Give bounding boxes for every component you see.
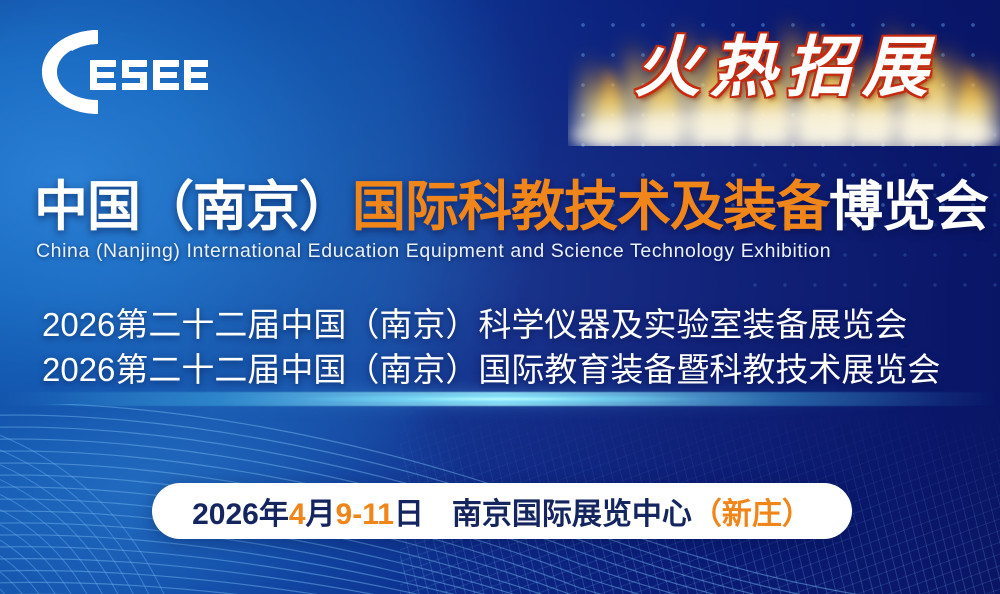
- venue-district: （新庄）: [692, 498, 812, 531]
- venue-name: 南京国际展览中心: [452, 498, 692, 531]
- cesee-logo[interactable]: [28, 24, 208, 120]
- logo-c-mark: [42, 30, 98, 114]
- date-year: 2026年: [192, 498, 289, 531]
- date-venue-text: 2026年4月9-11日南京国际展览中心（新庄）: [192, 489, 812, 533]
- title-segment-white-2: 博览会: [829, 177, 988, 237]
- page-title: 中国（南京）国际科教技术及装备博览会: [34, 178, 974, 236]
- flame-badge: 火热招展: [568, 0, 1000, 146]
- date-month-number: 4: [289, 498, 306, 531]
- date-venue-pill: 2026年4月9-11日南京国际展览中心（新庄）: [152, 483, 852, 539]
- date-day-label: 日: [394, 498, 424, 531]
- subtitle-line-1: 2026第二十二届中国（南京）科学仪器及实验室装备展览会: [42, 298, 992, 346]
- subtitle-line-2: 2026第二十二届中国（南京）国际教育装备暨科教技术展览会: [42, 343, 992, 391]
- exhibition-promo-banner: 火热招展 中国（南京）国际科教技术及装备博览会 China (Nanjing) …: [0, 0, 1000, 594]
- title-english: China (Nanjing) International Education …: [36, 240, 966, 263]
- date-day-range: 9-11: [336, 498, 394, 531]
- flame-badge-text: 火热招展: [568, 14, 1000, 110]
- date-month-label: 月: [306, 498, 336, 531]
- title-segment-white-1: 中国（南京）: [34, 177, 352, 237]
- title-segment-orange: 国际科教技术及装备: [352, 177, 829, 237]
- logo-wordmark: [90, 60, 208, 90]
